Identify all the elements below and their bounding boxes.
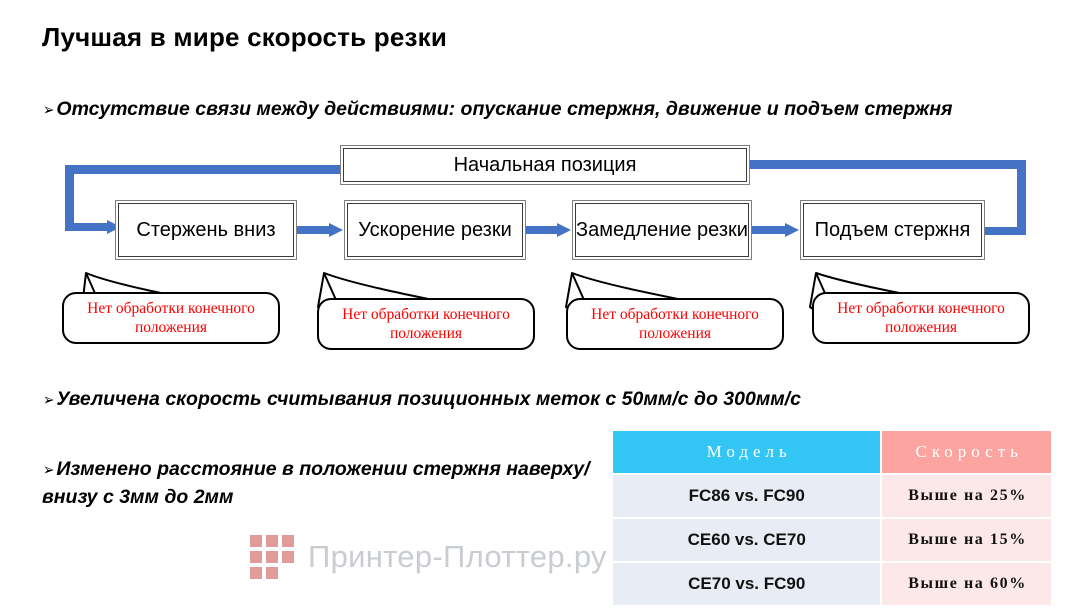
process-box-start-label: Начальная позиция bbox=[452, 153, 639, 177]
table-header-row: Модель Скорость bbox=[612, 430, 1052, 474]
comparison-table: Модель Скорость FC86 vs. FC90 Выше на 25… bbox=[611, 429, 1053, 607]
bullet-text-3: Изменено расстояние в положении стержня … bbox=[42, 458, 590, 508]
printer-plotter-logo-icon bbox=[250, 535, 294, 579]
table-cell-speed-1: Выше на 25% bbox=[881, 474, 1052, 518]
table-cell-model-1: FC86 vs. FC90 bbox=[612, 474, 881, 518]
table-cell-speed-2: Выше на 15% bbox=[881, 518, 1052, 562]
callout-label-3: Нет обработки конечного положения bbox=[568, 305, 782, 343]
loop-line-left-top bbox=[65, 165, 350, 174]
callout-bubble-3: Нет обработки конечного положения bbox=[566, 298, 784, 350]
table-cell-model-3: CE70 vs. FC90 bbox=[612, 562, 881, 606]
process-box-start[interactable]: Начальная позиция bbox=[340, 145, 750, 185]
watermark-text: Принтер-Плоттер.ру bbox=[308, 539, 607, 575]
bullet-marker-icon: ➢ bbox=[43, 98, 54, 124]
bullet-item-2: ➢Увеличена скорость считывания позиционн… bbox=[42, 386, 801, 414]
process-diagram: Начальная позиция Стержень вниз Ускорени… bbox=[0, 140, 1091, 360]
callout-label-1: Нет обработки конечного положения bbox=[64, 299, 278, 337]
bullet-item-3: ➢Изменено расстояние в положении стержня… bbox=[42, 456, 602, 510]
watermark: Принтер-Плоттер.ру bbox=[250, 535, 607, 579]
table-header-speed: Скорость bbox=[881, 430, 1052, 474]
loop-line-right-vert bbox=[1017, 160, 1026, 235]
table-header-model: Модель bbox=[612, 430, 881, 474]
loop-line-right-top bbox=[748, 160, 1026, 169]
bullet-marker-icon-2: ➢ bbox=[43, 388, 54, 414]
bullet-text-2: Увеличена скорость считывания позиционны… bbox=[56, 388, 801, 410]
table-row: CE70 vs. FC90 Выше на 60% bbox=[612, 562, 1052, 606]
callout-label-2: Нет обработки конечного положения bbox=[319, 305, 533, 343]
callout-bubble-4: Нет обработки конечного положения bbox=[812, 292, 1030, 344]
table-cell-speed-3: Выше на 60% bbox=[881, 562, 1052, 606]
table-row: CE60 vs. CE70 Выше на 15% bbox=[612, 518, 1052, 562]
table-cell-model-2: CE60 vs. CE70 bbox=[612, 518, 881, 562]
page-title: Лучшая в мире скорость резки bbox=[42, 22, 447, 53]
slide-canvas: Лучшая в мире скорость резки ➢Отсутствие… bbox=[0, 0, 1091, 613]
bullet-marker-icon-3: ➢ bbox=[43, 458, 54, 484]
bullet-item-1: ➢Отсутствие связи между действиями: опус… bbox=[42, 96, 952, 124]
bullet-text-1: Отсутствие связи между действиями: опуск… bbox=[56, 98, 952, 120]
loop-line-left-vert bbox=[65, 165, 74, 227]
callout-bubble-1: Нет обработки конечного положения bbox=[62, 292, 280, 344]
callout-bubble-2: Нет обработки конечного положения bbox=[317, 298, 535, 350]
table-row: FC86 vs. FC90 Выше на 25% bbox=[612, 474, 1052, 518]
callout-label-4: Нет обработки конечного положения bbox=[814, 299, 1028, 337]
